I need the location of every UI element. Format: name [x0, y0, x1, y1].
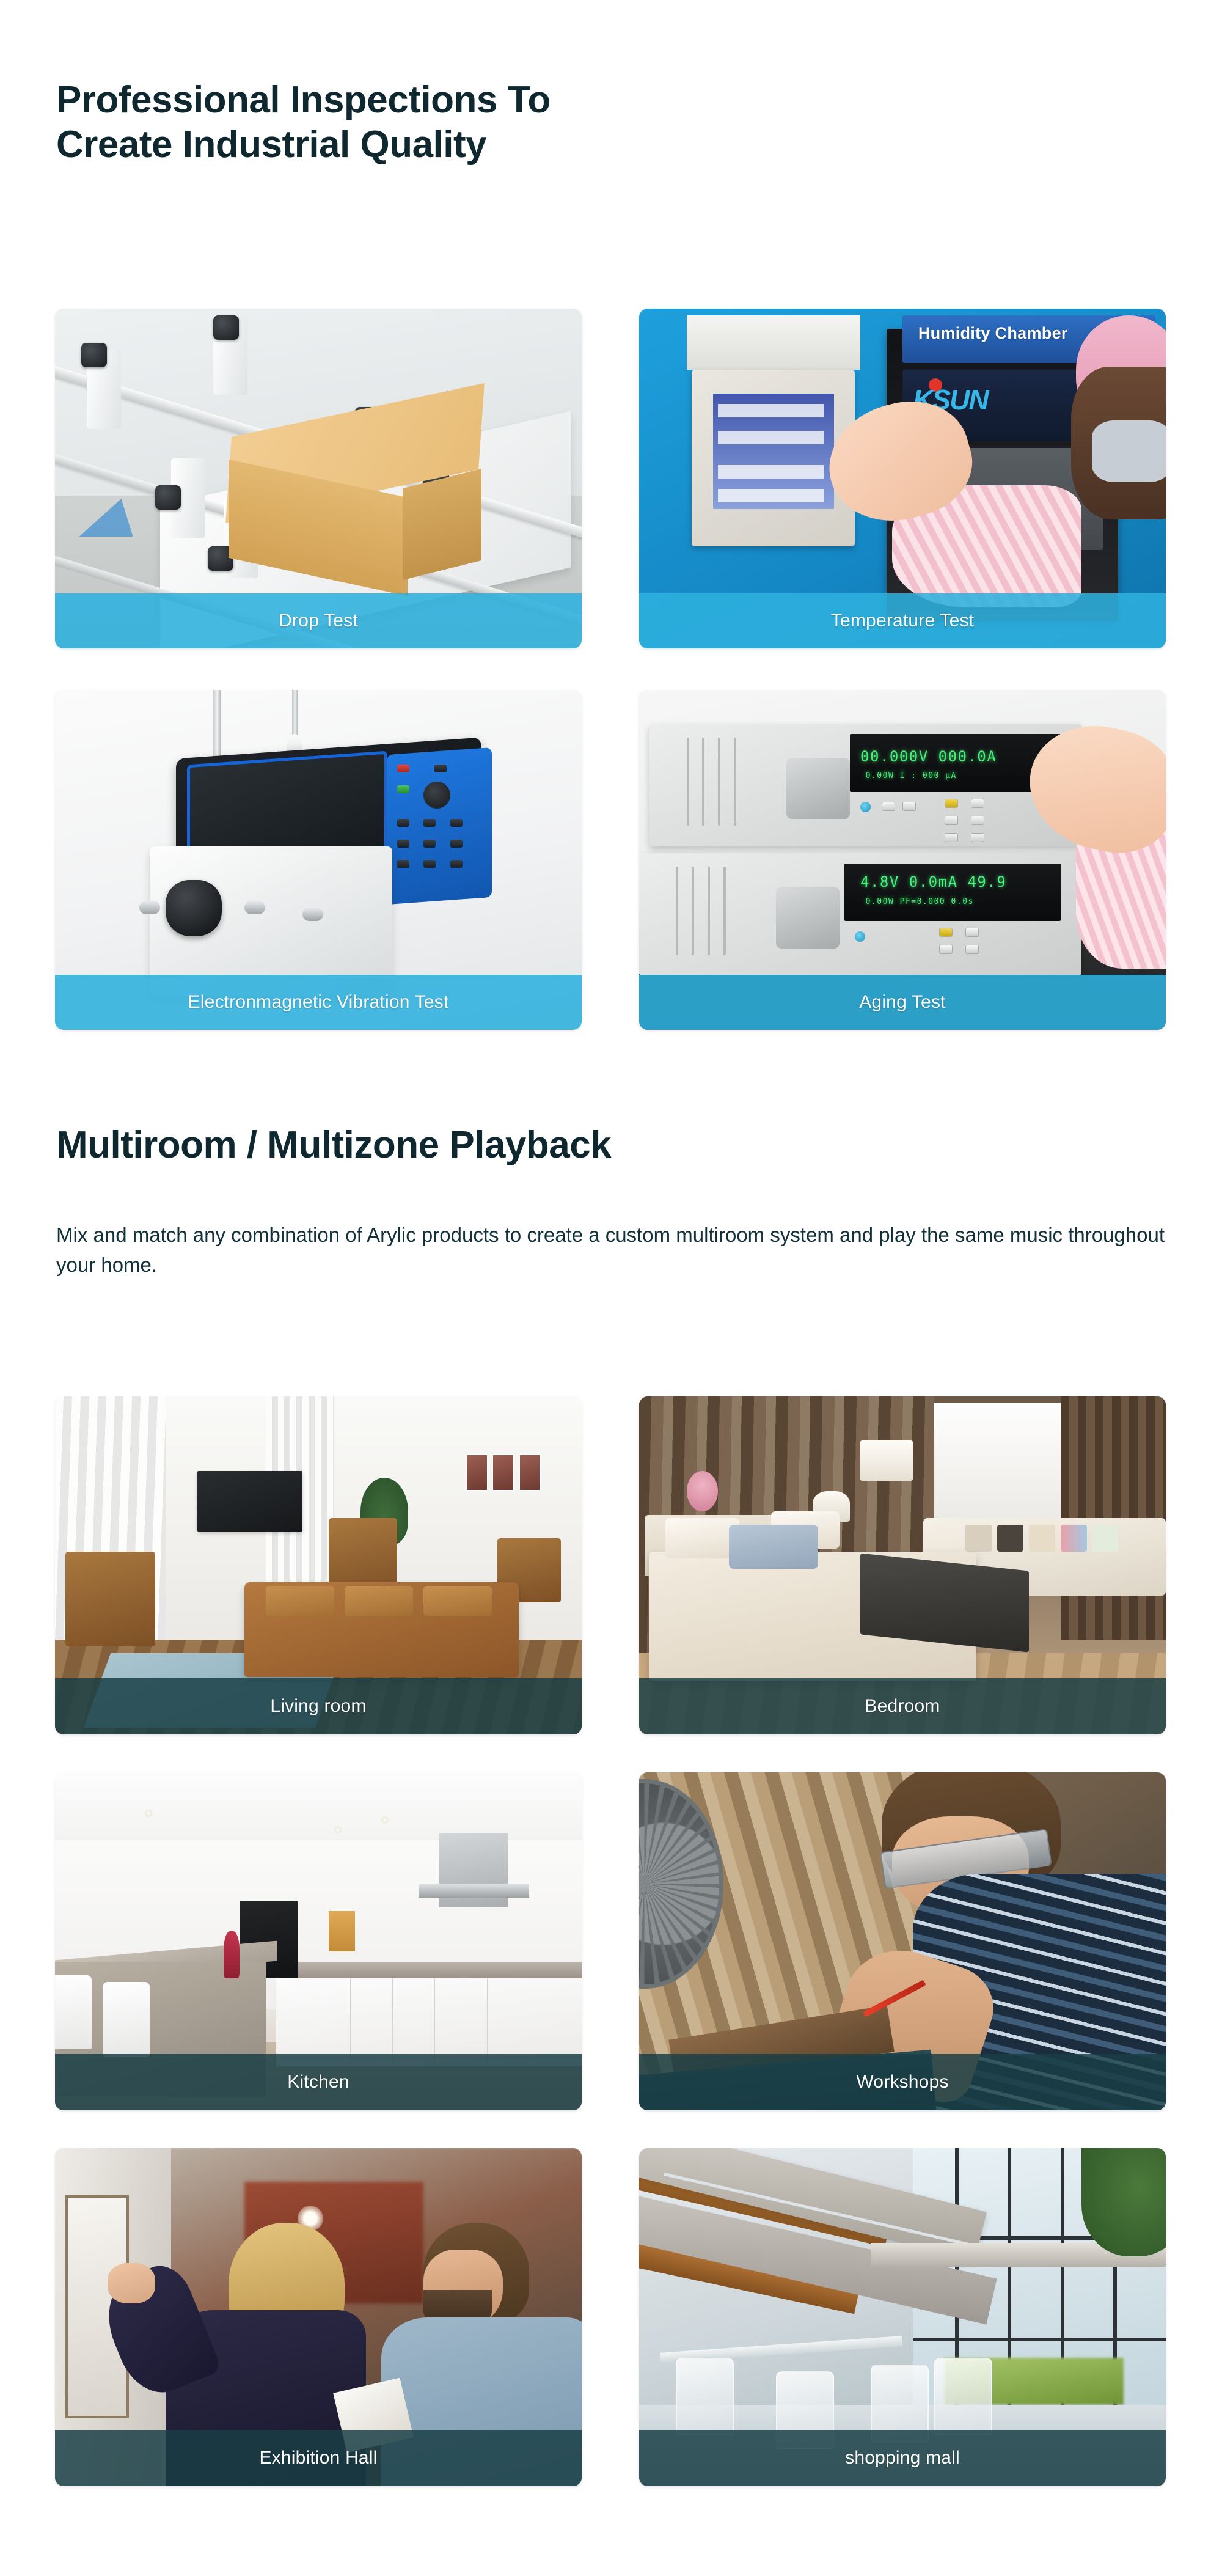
room-card-kitchen[interactable]: Kitchen [55, 1772, 582, 2110]
inspection-card-drop-test[interactable]: Drop Test [55, 309, 582, 648]
card-caption: Living room [55, 1678, 582, 1734]
card-caption: Bedroom [639, 1678, 1166, 1734]
card-caption: Electronmagnetic Vibration Test [55, 975, 582, 1030]
page-root: Professional Inspections To Create Indus… [0, 0, 1222, 2576]
card-caption: Workshops [639, 2054, 1166, 2110]
card-caption-label: Drop Test [279, 611, 358, 631]
card-caption-label: Living room [270, 1696, 366, 1717]
inspections-heading: Professional Inspections To Create Indus… [56, 78, 551, 167]
aging-led-sub-top: 0.00W I : 000 µA [866, 771, 957, 780]
card-caption: Drop Test [55, 593, 582, 648]
room-card-shopping-mall[interactable]: shopping mall [639, 2148, 1166, 2486]
room-card-exhibition-hall[interactable]: Exhibition Hall [55, 2148, 582, 2486]
card-caption: Aging Test [639, 975, 1166, 1030]
card-caption: Exhibition Hall [55, 2430, 582, 2486]
inspection-card-vibration-test[interactable]: Electronmagnetic Vibration Test [55, 690, 582, 1030]
card-caption-label: Aging Test [859, 992, 946, 1013]
multiroom-description: Mix and match any combination of Arylic … [56, 1220, 1174, 1280]
room-card-bedroom[interactable]: Bedroom [639, 1396, 1166, 1734]
room-card-workshops[interactable]: Workshops [639, 1772, 1166, 2110]
card-caption-label: Workshops [856, 2072, 948, 2093]
card-caption-label: Temperature Test [831, 611, 974, 631]
card-caption-label: Exhibition Hall [259, 2448, 377, 2468]
aging-led-readout-bottom: 4.8V 0.0mA 49.9 [860, 873, 1006, 890]
card-caption: Kitchen [55, 2054, 582, 2110]
rooms-card-grid: Living room [55, 1396, 1166, 2486]
card-caption-label: shopping mall [845, 2448, 960, 2468]
aging-led-sub-bottom: 0.00W PF=0.000 0.0s [866, 897, 974, 906]
card-caption-label: Electronmagnetic Vibration Test [188, 992, 449, 1013]
inspection-card-grid: Drop Test Humidity Chamber KSUN [55, 309, 1166, 1030]
inspection-card-temperature-test[interactable]: Humidity Chamber KSUN Temperature T [639, 309, 1166, 648]
card-caption-label: Kitchen [287, 2072, 349, 2093]
multiroom-heading: Multiroom / Multizone Playback [56, 1123, 611, 1168]
aging-led-readout-top: 00.000V 000.0A [860, 748, 997, 765]
card-caption: shopping mall [639, 2430, 1166, 2486]
card-caption-label: Bedroom [865, 1696, 940, 1717]
room-card-living-room[interactable]: Living room [55, 1396, 582, 1734]
inspection-card-aging-test[interactable]: 00.000V 000.0A 0.00W I : 000 µA 4.8V 0.0… [639, 690, 1166, 1030]
card-caption: Temperature Test [639, 593, 1166, 648]
